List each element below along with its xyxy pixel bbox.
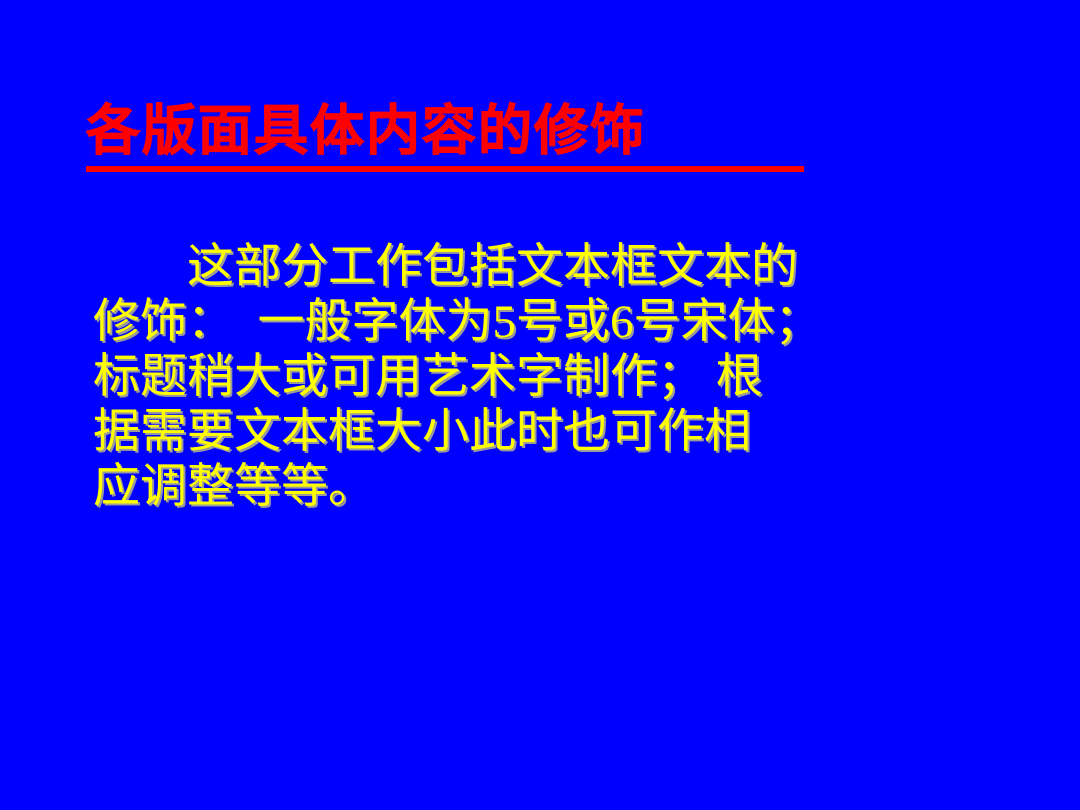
slide-body-text: 这部分工作包括文本框文本的 修饰： 一般字体为5号或6号宋体； 标题稍大或可用艺…	[93, 240, 783, 515]
presentation-slide: 各版面具体内容的修饰 这部分工作包括文本框文本的 修饰： 一般字体为5号或6号宋…	[0, 0, 1080, 810]
body-line-3: 标题稍大或可用艺术字制作； 根	[93, 350, 783, 405]
title-underline-rule	[86, 166, 804, 172]
body-line-5: 应调整等等。	[93, 460, 783, 515]
page-title: 各版面具体内容的修饰	[86, 100, 808, 162]
body-line-2: 修饰： 一般字体为5号或6号宋体；	[93, 295, 783, 350]
body-line-4: 据需要文本框大小此时也可作相	[93, 405, 783, 460]
slide-title-block: 各版面具体内容的修饰	[86, 100, 808, 172]
body-line-1: 这部分工作包括文本框文本的	[93, 240, 783, 295]
